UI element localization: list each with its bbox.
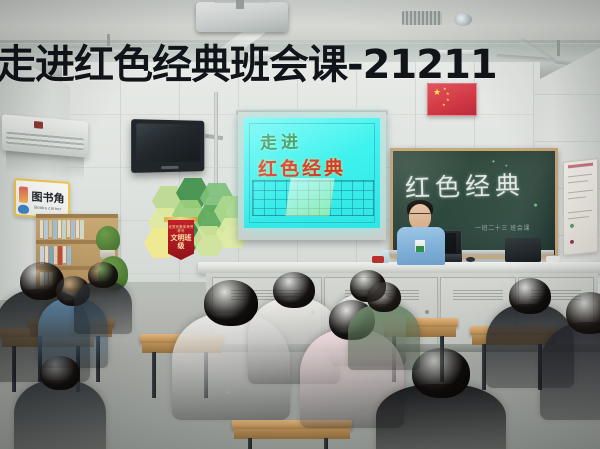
projector-vent [402,11,442,25]
classroom-photo: 优秀班集体荣誉称号 文明班级 图书角 Books corner 红色经典 一班二… [0,0,600,449]
projection-screen: 走进 红色经典 [238,112,386,240]
book-spine [71,220,75,239]
flag-big-star-icon: ★ [433,88,441,97]
wall-conduit-pipe [214,92,218,188]
flag-small-star-icon: ★ [442,103,446,107]
book-spine [80,220,84,239]
sign-badge-icon [18,204,29,214]
poster-dot-icon [570,224,574,228]
student-torso [74,281,132,334]
poster-text-line [568,210,592,214]
potted-plant-top [96,226,120,252]
sign-ribbon-icon [19,186,28,203]
mouse-object [466,257,475,262]
student-head [88,262,118,288]
student-head [367,282,401,312]
desk-leg [248,438,252,449]
poster-text-line [568,190,593,194]
paper-stack [546,256,560,262]
book-spine [53,220,57,239]
book-spine [58,220,61,238]
projector-lens [454,13,472,26]
poster-text-line [568,196,586,199]
red-box-object [372,256,384,263]
flag-small-star-icon: ★ [446,98,450,102]
ac-indicator-icon [34,121,43,129]
shelf-plank [36,214,118,218]
right-wall-poster [563,158,598,256]
podium-monitor [505,238,541,262]
poster-text-line [568,180,588,183]
student-head [40,356,80,390]
banner-header-text: 优秀班集体荣誉称号 [168,225,194,233]
page-title: 走进红色经典班会课-21211 [0,42,497,88]
poster-header-bar [568,163,593,169]
poster-text-line [568,174,592,178]
student-bottom-left [14,356,106,449]
student-head [412,348,470,398]
wall-mounted-tv [131,119,204,173]
book-spine [63,246,66,263]
honor-banner: 优秀班集体荣誉称号 文明班级 [168,220,194,260]
presenter-glasses-icon [410,213,430,219]
book-spine [49,220,52,237]
book-spine [67,220,70,237]
poster-dot-icon [570,240,574,244]
student-floral-jacket [540,292,600,420]
flag-small-star-icon: ★ [446,92,450,96]
book-spine [62,220,66,239]
poster-text-line [568,216,589,219]
slide-light-wash [244,118,380,228]
book-spine [45,246,48,263]
student-back-row-dark [74,262,132,334]
desk-leg [324,438,328,449]
projector-mount-icon [236,0,244,9]
student-front-right-black [376,348,506,449]
desk-leg [152,352,156,398]
cabinet-knob[interactable] [425,310,429,314]
book-spine [44,220,48,239]
student-presenter [395,198,447,264]
book-spine [76,220,79,238]
banner-main-text: 文明班级 [168,235,194,251]
student-torso [540,322,600,420]
wall-air-conditioner [2,114,88,158]
tv-screen [136,123,200,162]
tv-brand-strip [161,166,178,169]
student-head [566,292,600,334]
projected-slide: 走进 红色经典 [244,118,380,228]
presenter-badge-accent [416,246,424,252]
book-spine [40,220,43,238]
student-torso [14,380,106,449]
ac-vent-grill [6,132,84,151]
blackboard-chalk-subtext: 一班二十三 班会课 [475,223,545,232]
